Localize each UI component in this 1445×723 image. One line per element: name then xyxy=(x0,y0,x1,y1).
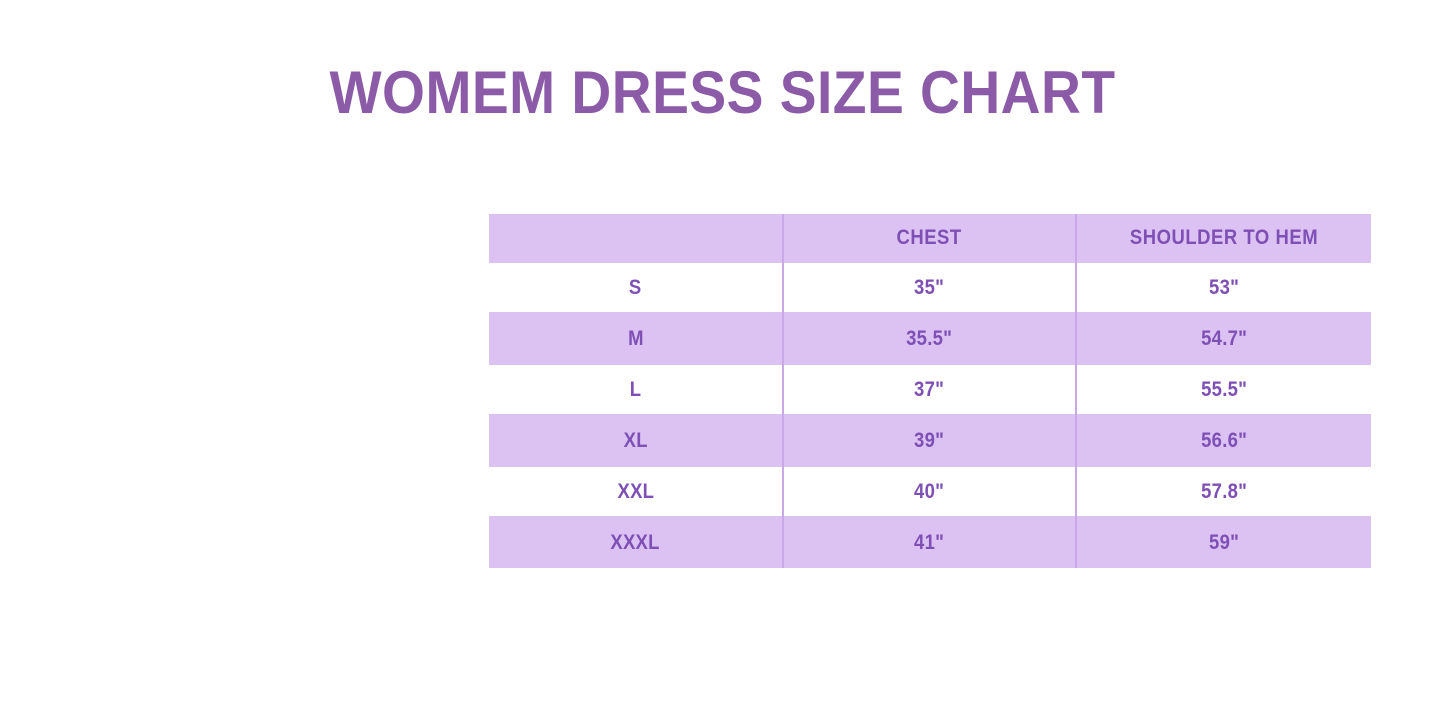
table-header: CHEST SHOULDER TO HEM xyxy=(489,214,1371,262)
cell-shoulder-to-hem: 59" xyxy=(1076,517,1371,568)
value-size: M xyxy=(628,327,644,351)
value-chest: 41" xyxy=(914,531,944,555)
cell-shoulder-to-hem: 56.6" xyxy=(1076,415,1371,466)
value-chest: 35.5" xyxy=(906,327,952,351)
cell-size: XXXL xyxy=(489,517,783,568)
cell-shoulder-to-hem: 57.8" xyxy=(1076,466,1371,517)
value-chest: 39" xyxy=(914,429,944,453)
value-size: S xyxy=(629,276,642,300)
value-size: XL xyxy=(623,429,647,453)
cell-chest: 39" xyxy=(783,415,1076,466)
cell-size: S xyxy=(489,262,783,313)
cell-shoulder-to-hem: 55.5" xyxy=(1076,364,1371,415)
cell-shoulder-to-hem: 54.7" xyxy=(1076,313,1371,364)
value-chest: 40" xyxy=(914,480,944,504)
header-cell-shoulder-to-hem: SHOULDER TO HEM xyxy=(1076,214,1371,262)
header-cell-size xyxy=(489,214,783,262)
cell-chest: 37" xyxy=(783,364,1076,415)
value-shoulder-to-hem: 55.5" xyxy=(1201,378,1247,402)
page-title: WOMEM DRESS SIZE CHART xyxy=(58,58,1387,128)
value-size: XXXL xyxy=(611,531,660,555)
table-row: L 37" 55.5" xyxy=(489,364,1371,415)
table-row: M 35.5" 54.7" xyxy=(489,313,1371,364)
value-shoulder-to-hem: 57.8" xyxy=(1201,480,1247,504)
value-size: L xyxy=(630,378,642,402)
cell-size: XL xyxy=(489,415,783,466)
value-shoulder-to-hem: 54.7" xyxy=(1201,327,1247,351)
cell-chest: 41" xyxy=(783,517,1076,568)
size-chart-table: CHEST SHOULDER TO HEM S 35" 53" xyxy=(489,214,1371,568)
size-chart-page: WOMEM DRESS SIZE CHART CHEST SHOULDER TO… xyxy=(0,0,1445,723)
value-shoulder-to-hem: 56.6" xyxy=(1201,429,1247,453)
value-chest: 37" xyxy=(914,378,944,402)
cell-chest: 35.5" xyxy=(783,313,1076,364)
header-cell-chest: CHEST xyxy=(783,214,1076,262)
value-shoulder-to-hem: 53" xyxy=(1209,276,1239,300)
table-row: S 35" 53" xyxy=(489,262,1371,313)
cell-size: L xyxy=(489,364,783,415)
table-body: S 35" 53" M 35.5" 54.7" xyxy=(489,262,1371,568)
table-row: XXXL 41" 59" xyxy=(489,517,1371,568)
cell-size: M xyxy=(489,313,783,364)
header-label-shoulder-to-hem: SHOULDER TO HEM xyxy=(1130,226,1318,250)
table-row: XXL 40" 57.8" xyxy=(489,466,1371,517)
table-header-row: CHEST SHOULDER TO HEM xyxy=(489,214,1371,262)
value-shoulder-to-hem: 59" xyxy=(1209,531,1239,555)
cell-chest: 40" xyxy=(783,466,1076,517)
value-chest: 35" xyxy=(914,276,944,300)
value-size: XXL xyxy=(617,480,654,504)
header-label-chest: CHEST xyxy=(897,226,962,250)
table-row: XL 39" 56.6" xyxy=(489,415,1371,466)
cell-size: XXL xyxy=(489,466,783,517)
cell-chest: 35" xyxy=(783,262,1076,313)
cell-shoulder-to-hem: 53" xyxy=(1076,262,1371,313)
